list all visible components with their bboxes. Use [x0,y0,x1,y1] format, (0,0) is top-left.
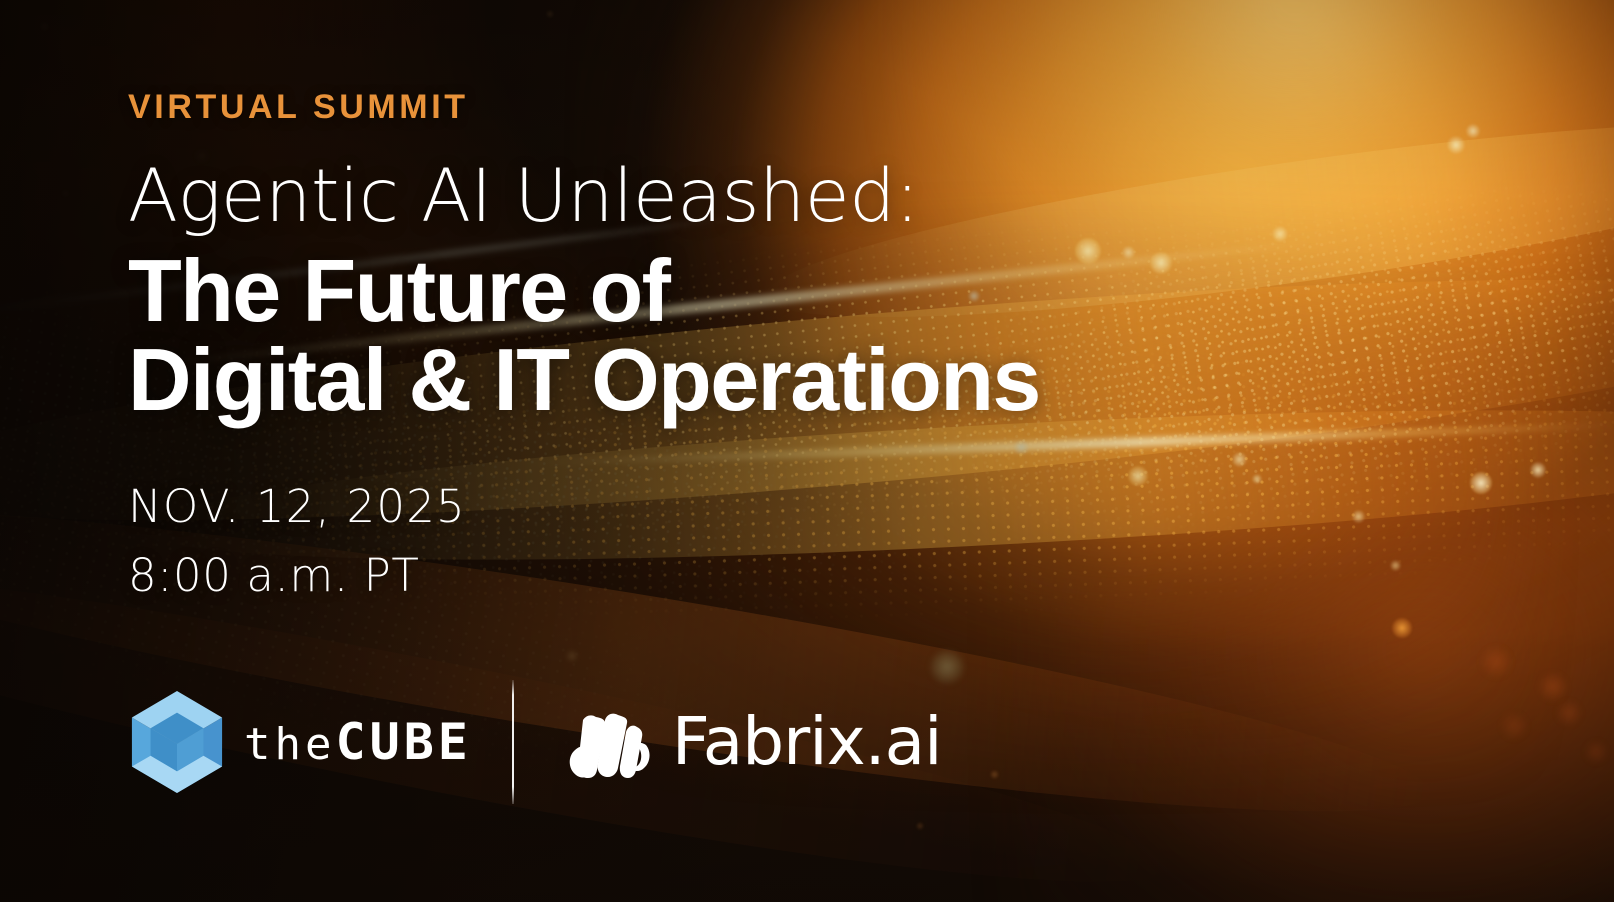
fabrix-wordmark: Fabrix.ai [672,709,942,775]
logo-lockup: the CUBE [128,682,941,802]
headline-line-bold-1: The Future of [128,241,669,340]
headline-block: Agentic AI Unleashed: The Future of Digi… [128,160,1188,427]
thecube-word-the: the [244,719,335,770]
eyebrow-label: VIRTUAL SUMMIT [128,88,469,127]
event-time: 8:00 a.m. PT [128,553,466,598]
isometric-cube-icon [128,691,226,793]
thecube-wordmark: the CUBE [244,713,472,771]
headline-bold-block: The Future of Digital & IT Operations [128,243,1188,427]
headline-line-light: Agentic AI Unleashed: [128,160,1188,233]
event-promo-banner: VIRTUAL SUMMIT Agentic AI Unleashed: The… [0,0,1614,902]
thecube-logo[interactable]: the CUBE [128,691,472,793]
logo-divider [512,680,514,804]
fabrix-logo[interactable]: Fabrix.ai [560,699,942,785]
thecube-word-cube: CUBE [335,713,471,771]
event-datetime-block: NOV. 12, 2025 8:00 a.m. PT [128,484,466,598]
banner-content: VIRTUAL SUMMIT Agentic AI Unleashed: The… [0,0,1614,902]
headline-line-bold-2: Digital & IT Operations [128,332,1188,427]
fabrix-ribbon-monogram-icon [560,699,656,785]
event-date: NOV. 12, 2025 [128,484,466,529]
